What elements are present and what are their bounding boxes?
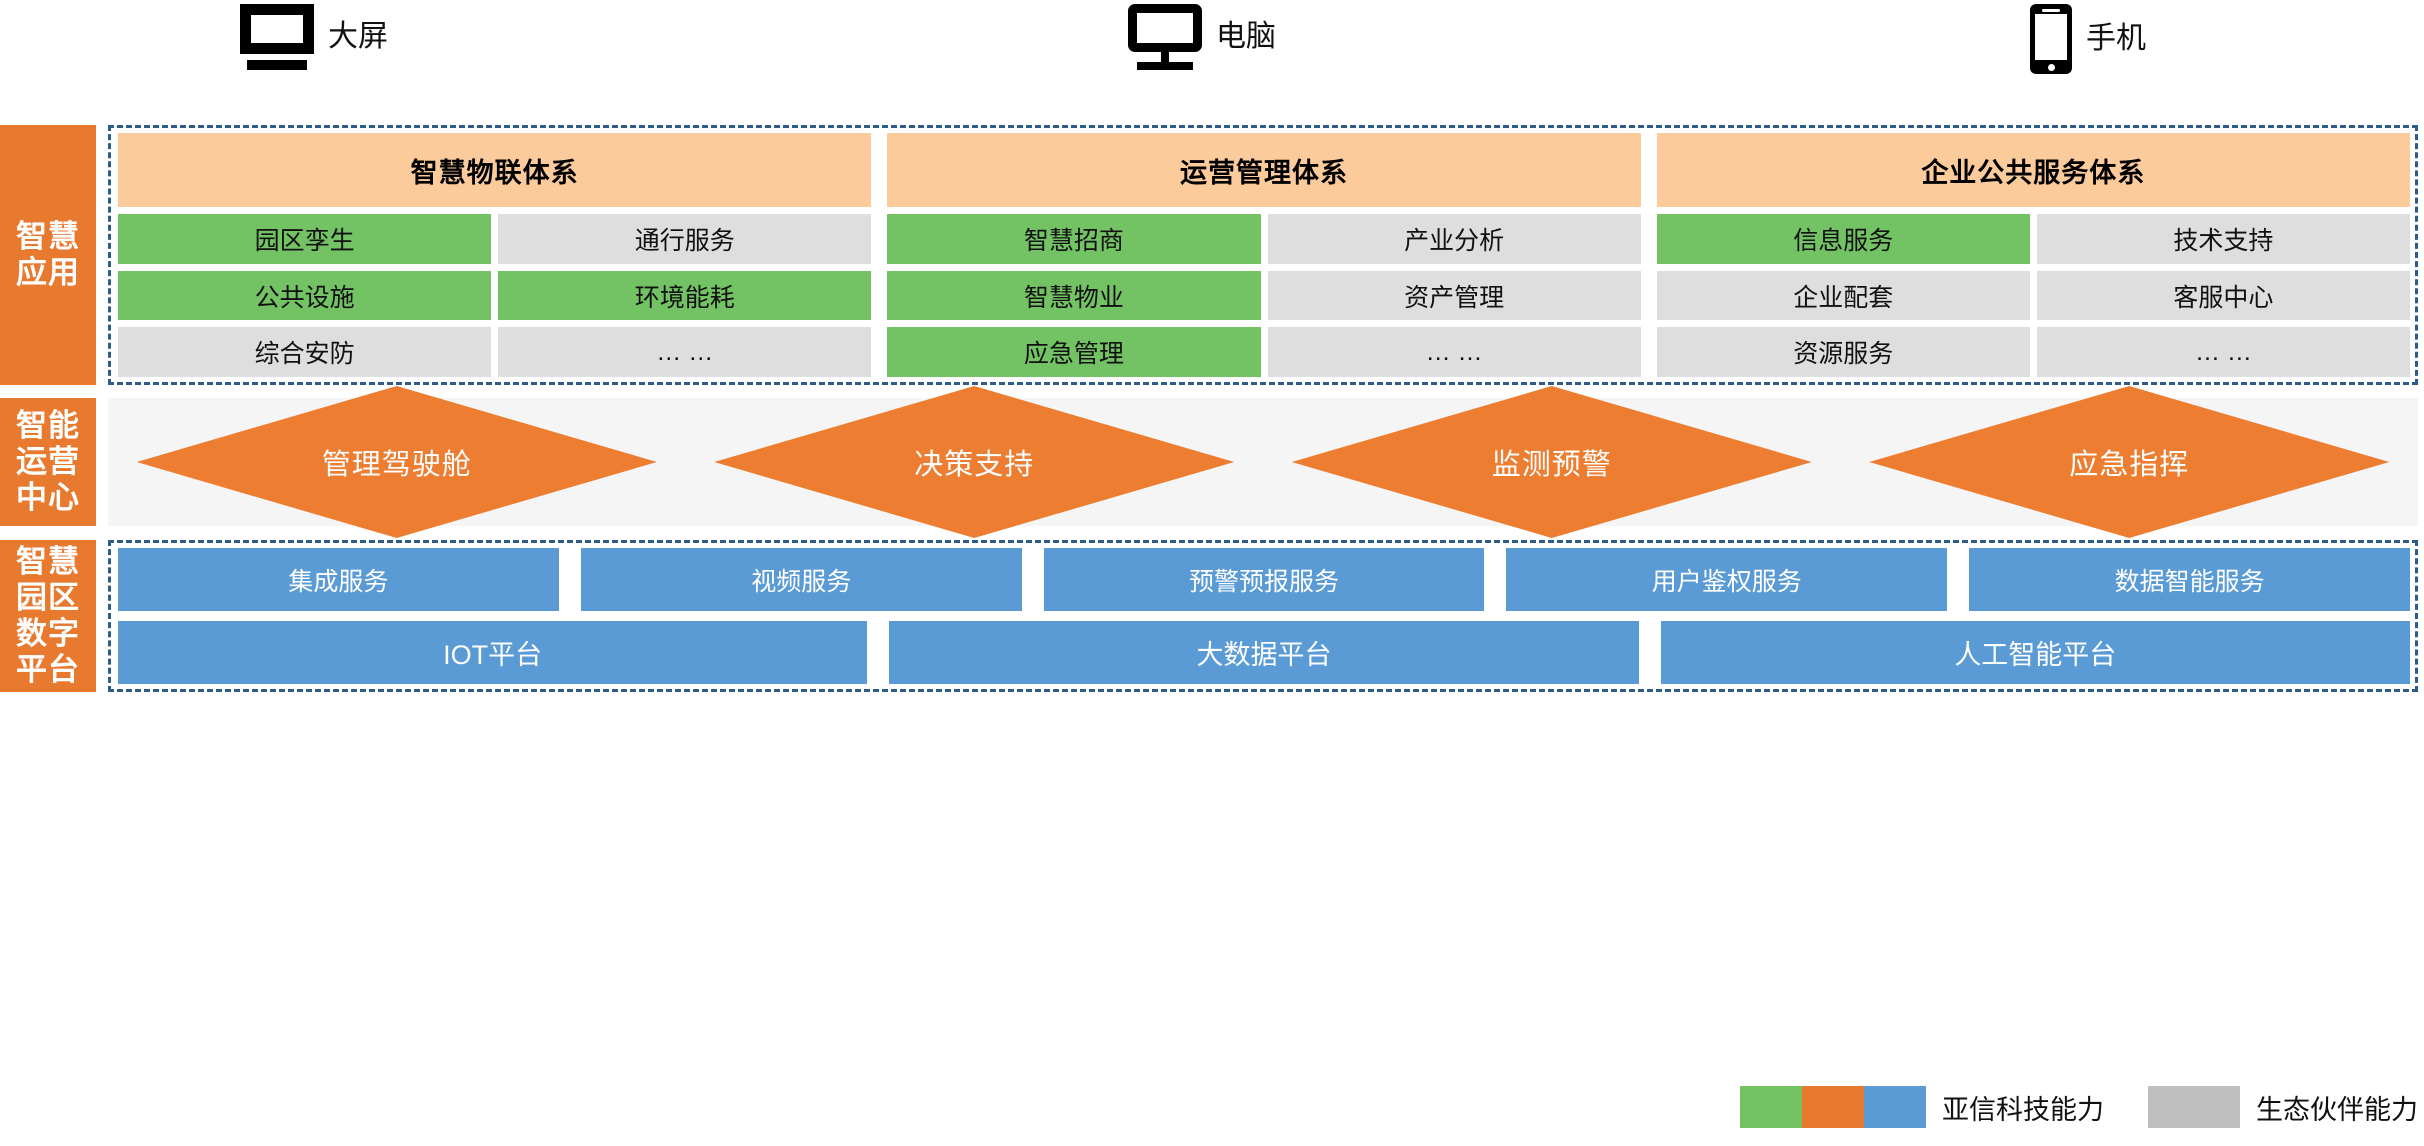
group-title-operation: 运营管理体系 xyxy=(887,133,1640,207)
platform-service-box[interactable]: 数据智能服务 xyxy=(1969,548,2410,611)
layer-label-smart-application: 智慧 应用 xyxy=(0,125,96,385)
layer-label-digital-platform: 智慧 园区 数字 平台 xyxy=(0,540,96,692)
app-cell[interactable]: 资产管理 xyxy=(1268,271,1641,321)
platform-service-box[interactable]: 集成服务 xyxy=(118,548,559,611)
operation-center-diamond[interactable]: 决策支持 xyxy=(714,386,1234,538)
device-channel-phone: 手机 xyxy=(2030,4,2146,74)
group-title-enterprise-service: 企业公共服务体系 xyxy=(1657,133,2410,207)
app-cell[interactable]: 智慧招商 xyxy=(887,214,1260,264)
layer-label-operation-center-text: 智能 运营 中心 xyxy=(16,408,80,516)
mobile-phone-icon xyxy=(2030,4,2072,74)
device-label-phone: 手机 xyxy=(2086,24,2146,54)
app-cell[interactable]: 技术支持 xyxy=(2037,214,2410,264)
big-screen-icon xyxy=(240,4,314,70)
app-cell[interactable]: 信息服务 xyxy=(1657,214,2030,264)
application-row: 公共设施 环境能耗 xyxy=(118,271,871,321)
group-rows-operation: 智慧招商 产业分析 智慧物业 资产管理 应急管理 … … xyxy=(887,214,1640,377)
device-channel-computer: 电脑 xyxy=(1128,4,1276,70)
platform-core-box[interactable]: IOT平台 xyxy=(118,621,867,684)
application-group-iot: 智慧物联体系 园区孪生 通行服务 公共设施 环境能耗 综合安防 … … xyxy=(118,133,871,377)
application-row: 智慧招商 产业分析 xyxy=(887,214,1640,264)
legend-item-asiainfo: 亚信科技能力 xyxy=(1740,1086,2104,1128)
platform-core-box[interactable]: 人工智能平台 xyxy=(1661,621,2410,684)
platform-service-box[interactable]: 预警预报服务 xyxy=(1044,548,1485,611)
device-label-big-screen: 大屏 xyxy=(328,22,388,52)
legend-swatch-tricolor xyxy=(1740,1086,1926,1128)
group-rows-enterprise-service: 信息服务 技术支持 企业配套 客服中心 资源服务 … … xyxy=(1657,214,2410,377)
app-cell[interactable]: 客服中心 xyxy=(2037,271,2410,321)
desktop-computer-icon xyxy=(1128,4,1202,70)
application-group-enterprise-service: 企业公共服务体系 信息服务 技术支持 企业配套 客服中心 资源服务 … … xyxy=(1657,133,2410,377)
legend-swatch-gray xyxy=(2148,1086,2240,1128)
architecture-diagram: 大屏 电脑 手机 智慧 应用 智能 运营 中心 智慧 园区 数字 平台 智慧物联… xyxy=(0,0,2424,1146)
diamond-label: 管理驾驶舱 xyxy=(322,441,472,483)
diamond-label: 监测预警 xyxy=(1492,441,1612,483)
legend-item-partner: 生态伙伴能力 xyxy=(2148,1086,2418,1128)
device-label-computer: 电脑 xyxy=(1216,22,1276,52)
digital-platform-content: 集成服务 视频服务 预警预报服务 用户鉴权服务 数据智能服务 IOT平台 大数据… xyxy=(118,548,2410,684)
application-row: 园区孪生 通行服务 xyxy=(118,214,871,264)
application-row: 企业配套 客服中心 xyxy=(1657,271,2410,321)
smart-application-grid: 智慧物联体系 园区孪生 通行服务 公共设施 环境能耗 综合安防 … … 运营管理… xyxy=(118,133,2410,377)
legend: 亚信科技能力 生态伙伴能力 xyxy=(1740,1086,2418,1128)
platform-core-box[interactable]: 大数据平台 xyxy=(889,621,1638,684)
layer-label-operation-center: 智能 运营 中心 xyxy=(0,398,96,526)
operation-center-diamond[interactable]: 管理驾驶舱 xyxy=(137,386,657,538)
layer-label-smart-application-text: 智慧 应用 xyxy=(16,219,80,291)
platform-service-box[interactable]: 用户鉴权服务 xyxy=(1506,548,1947,611)
app-cell[interactable]: 产业分析 xyxy=(1268,214,1641,264)
application-group-operation: 运营管理体系 智慧招商 产业分析 智慧物业 资产管理 应急管理 … … xyxy=(887,133,1640,377)
legend-label-partner: 生态伙伴能力 xyxy=(2256,1088,2418,1127)
operation-center-diamond[interactable]: 监测预警 xyxy=(1292,386,1812,538)
legend-label-asiainfo: 亚信科技能力 xyxy=(1942,1088,2104,1127)
group-title-iot: 智慧物联体系 xyxy=(118,133,871,207)
app-cell[interactable]: 园区孪生 xyxy=(118,214,491,264)
group-rows-iot: 园区孪生 通行服务 公共设施 环境能耗 综合安防 … … xyxy=(118,214,871,377)
layer-label-digital-platform-text: 智慧 园区 数字 平台 xyxy=(16,544,80,688)
platform-core-row: IOT平台 大数据平台 人工智能平台 xyxy=(118,621,2410,684)
operation-center-items: 管理驾驶舱 决策支持 监测预警 应急指挥 xyxy=(108,364,2418,560)
application-row: 智慧物业 资产管理 xyxy=(887,271,1640,321)
platform-service-box[interactable]: 视频服务 xyxy=(581,548,1022,611)
application-row: 信息服务 技术支持 xyxy=(1657,214,2410,264)
operation-center-diamond[interactable]: 应急指挥 xyxy=(1869,386,2389,538)
diamond-label: 决策支持 xyxy=(914,441,1034,483)
app-cell[interactable]: 企业配套 xyxy=(1657,271,2030,321)
diamond-label: 应急指挥 xyxy=(2069,441,2189,483)
app-cell[interactable]: 环境能耗 xyxy=(498,271,871,321)
platform-service-row: 集成服务 视频服务 预警预报服务 用户鉴权服务 数据智能服务 xyxy=(118,548,2410,611)
app-cell[interactable]: 智慧物业 xyxy=(887,271,1260,321)
app-cell[interactable]: 通行服务 xyxy=(498,214,871,264)
device-channel-big-screen: 大屏 xyxy=(240,4,388,70)
device-channel-row: 大屏 电脑 手机 xyxy=(0,0,2424,78)
app-cell[interactable]: 公共设施 xyxy=(118,271,491,321)
